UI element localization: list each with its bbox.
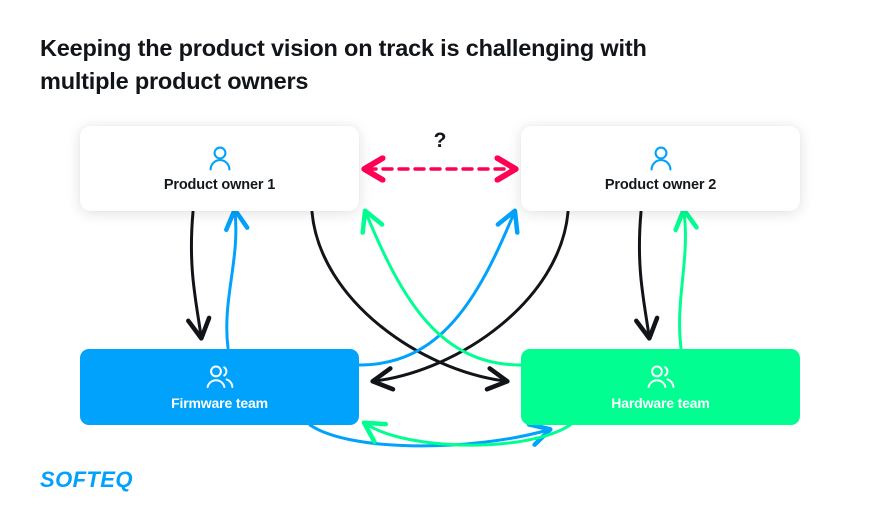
arrow-firmware-to-po2 [359,213,514,365]
diagram-canvas: Keeping the product vision on track is c… [0,0,880,524]
node-label-firmware-team: Firmware team [171,395,268,411]
arrow-hardware-to-po2 [680,212,686,348]
node-firmware-team[interactable]: Firmware team [80,349,359,425]
node-label-hardware-team: Hardware team [611,395,709,411]
softeq-logo: SOFTEQ [40,469,133,491]
arrow-firmware-to-hardware [310,425,548,446]
page-title: Keeping the product vision on track is c… [40,32,760,99]
people-group-icon [205,364,235,390]
node-label-product-owner-1: Product owner 1 [164,177,275,193]
people-group-icon [646,364,676,390]
arrow-po2-to-hardware [639,212,649,336]
question-mark-label: ? [0,129,880,153]
arrow-firmware-to-po1 [227,212,236,348]
question-mark-glyph: ? [434,129,447,152]
arrow-hardware-to-firmware [366,424,570,445]
node-label-product-owner-2: Product owner 2 [605,177,716,193]
node-hardware-team[interactable]: Hardware team [521,349,800,425]
arrow-hardware-to-po1 [366,213,521,365]
arrow-po1-to-firmware [191,212,201,336]
